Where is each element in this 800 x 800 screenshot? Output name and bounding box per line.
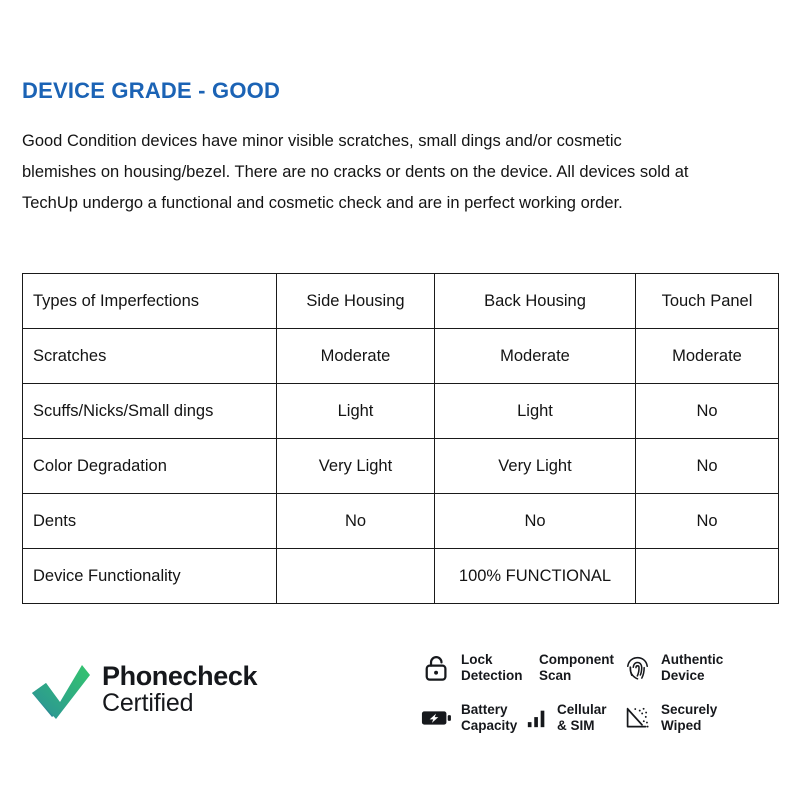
signal-bars-icon [524, 701, 550, 735]
table-row: Color Degradation Very Light Very Light … [23, 439, 779, 494]
column-header-imperfections: Types of Imperfections [23, 274, 277, 329]
data-wipe-icon [620, 701, 654, 735]
imperfections-table: Types of Imperfections Side Housing Back… [22, 273, 779, 604]
logo-name: Phonecheck [102, 663, 257, 691]
status-badge-functional: 100% FUNCTIONAL [435, 549, 636, 604]
cell-touch-panel [636, 549, 779, 604]
grade-description: Good Condition devices have minor visibl… [22, 126, 694, 219]
badge-lock-detection: Lock Detection [420, 651, 530, 685]
fingerprint-icon [620, 651, 654, 685]
table-row-device-functionality: Device Functionality 100% FUNCTIONAL [23, 549, 779, 604]
table-row: Scuffs/Nicks/Small dings Light Light No [23, 384, 779, 439]
badge-label: Cellular & SIM [557, 702, 607, 734]
cell-side-housing [277, 549, 435, 604]
column-header-back-housing: Back Housing [435, 274, 636, 329]
certification-badges: Lock Detection Component Scan [420, 643, 780, 743]
cell-touch-panel: No [636, 384, 779, 439]
badge-securely-wiped: Securely Wiped [620, 701, 740, 735]
row-label: Scratches [23, 329, 277, 384]
cell-touch-panel: No [636, 494, 779, 549]
badge-authentic-device: Authentic Device [620, 651, 740, 685]
row-label: Dents [23, 494, 277, 549]
badge-battery-capacity: Battery Capacity [420, 701, 524, 735]
row-label: Color Degradation [23, 439, 277, 494]
row-label: Device Functionality [23, 549, 277, 604]
cell-touch-panel: No [636, 439, 779, 494]
cell-side-housing: Very Light [277, 439, 435, 494]
cell-back-housing: Light [435, 384, 636, 439]
row-label: Scuffs/Nicks/Small dings [23, 384, 277, 439]
battery-icon [420, 701, 454, 735]
badge-label: Lock Detection [461, 652, 523, 684]
column-header-side-housing: Side Housing [277, 274, 435, 329]
cell-back-housing: Very Light [435, 439, 636, 494]
table-row: Scratches Moderate Moderate Moderate [23, 329, 779, 384]
logo-subtitle: Certified [102, 691, 257, 717]
badge-row-top: Lock Detection Component Scan [420, 643, 780, 693]
column-header-touch-panel: Touch Panel [636, 274, 779, 329]
cell-side-housing: Light [277, 384, 435, 439]
badge-label: Component Scan [539, 652, 614, 684]
cell-side-housing: Moderate [277, 329, 435, 384]
badge-label: Authentic Device [661, 652, 723, 684]
cell-side-housing: No [277, 494, 435, 549]
cell-back-housing: No [435, 494, 636, 549]
table-header-row: Types of Imperfections Side Housing Back… [23, 274, 779, 329]
cell-back-housing: Moderate [435, 329, 636, 384]
phonecheck-certified-logo: Phonecheck Certified [30, 655, 257, 725]
badge-label: Securely Wiped [661, 702, 717, 734]
badge-cellular-sim: Cellular & SIM [524, 701, 620, 735]
checkmark-icon [30, 655, 92, 725]
lock-open-icon [420, 651, 454, 685]
logo-wordmark: Phonecheck Certified [102, 663, 257, 716]
badge-component-scan: Component Scan [532, 651, 620, 685]
badge-row-bottom: Battery Capacity Cellular & SIM [420, 693, 780, 743]
cell-touch-panel: Moderate [636, 329, 779, 384]
badge-label: Battery Capacity [461, 702, 517, 734]
page-title: DEVICE GRADE - GOOD [22, 78, 280, 104]
table-row: Dents No No No [23, 494, 779, 549]
